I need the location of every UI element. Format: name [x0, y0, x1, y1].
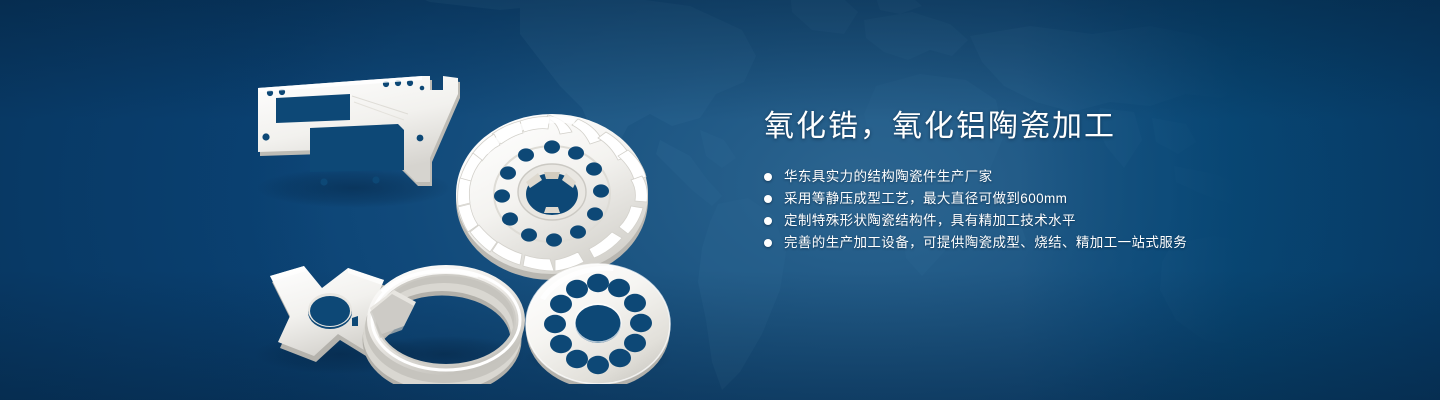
banner-copy: 氧化锆，氧化铝陶瓷加工 华东具实力的结构陶瓷件生产厂家 采用等静压成型工艺，最大…: [764, 106, 1324, 254]
banner-headline: 氧化锆，氧化铝陶瓷加工: [764, 106, 1324, 148]
bullet-dot-icon: [764, 173, 772, 181]
ceramic-machined-plate: [258, 76, 460, 186]
bullet-dot-icon: [764, 195, 772, 203]
product-photo-group: [232, 36, 692, 384]
feature-text: 完善的生产加工设备，可提供陶瓷成型、烧结、精加工一站式服务: [784, 232, 1187, 254]
bullet-dot-icon: [764, 239, 772, 247]
list-item: 定制特殊形状陶瓷结构件，具有精加工技术水平: [764, 210, 1324, 232]
feature-text: 定制特殊形状陶瓷结构件，具有精加工技术水平: [784, 210, 1076, 232]
list-item: 完善的生产加工设备，可提供陶瓷成型、烧结、精加工一站式服务: [764, 232, 1324, 254]
ceramic-perforated-disc: [526, 264, 670, 384]
list-item: 采用等静压成型工艺，最大直径可做到600mm: [764, 188, 1324, 210]
list-item: 华东具实力的结构陶瓷件生产厂家: [764, 166, 1324, 188]
feature-text: 采用等静压成型工艺，最大直径可做到600mm: [784, 188, 1067, 210]
feature-list: 华东具实力的结构陶瓷件生产厂家 采用等静压成型工艺，最大直径可做到600mm 定…: [764, 166, 1324, 254]
promo-banner: 氧化锆，氧化铝陶瓷加工 华东具实力的结构陶瓷件生产厂家 采用等静压成型工艺，最大…: [0, 0, 1440, 400]
ceramic-vaned-impeller: [456, 114, 648, 280]
bullet-dot-icon: [764, 217, 772, 225]
ceramic-rings: [368, 270, 520, 384]
feature-text: 华东具实力的结构陶瓷件生产厂家: [784, 166, 993, 188]
